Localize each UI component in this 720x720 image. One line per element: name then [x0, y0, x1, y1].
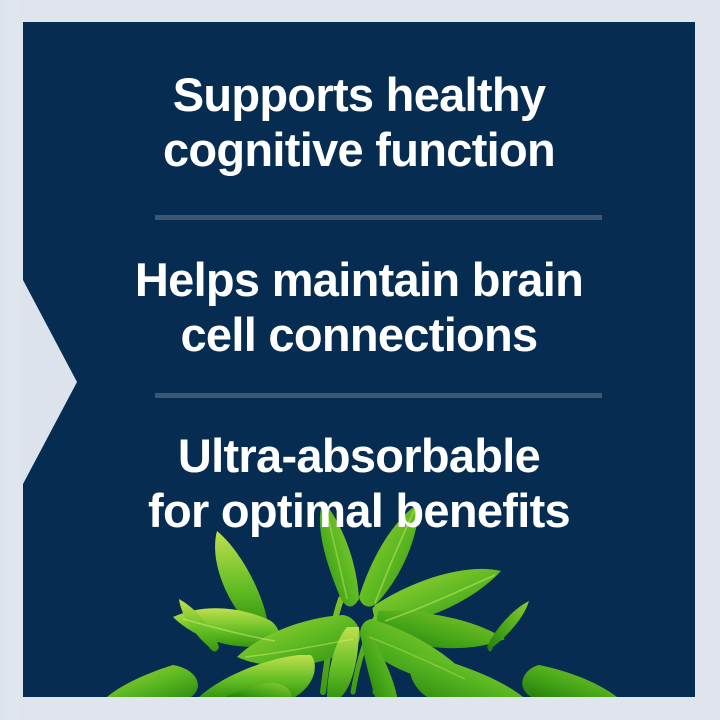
claim-line: for optimal benefits	[41, 484, 677, 539]
claim-line: cognitive function	[41, 123, 677, 178]
claim-line: cell connections	[41, 308, 677, 363]
claim-line: Ultra-absorbable	[41, 429, 677, 484]
claims-list: Supports healthy cognitive function Help…	[23, 22, 695, 697]
claim-line: Helps maintain brain	[41, 253, 677, 308]
claim-brain-cell-connections: Helps maintain brain cell connections	[23, 253, 695, 363]
claim-ultra-absorbable: Ultra-absorbable for optimal benefits	[23, 429, 695, 539]
benefits-panel-graphic: Supports healthy cognitive function Help…	[0, 0, 720, 720]
claim-line: Supports healthy	[41, 68, 677, 123]
navy-panel: Supports healthy cognitive function Help…	[23, 22, 695, 697]
divider-2	[155, 393, 602, 398]
left-edge-band	[0, 0, 23, 720]
divider-1	[155, 215, 602, 220]
claim-cognitive-function: Supports healthy cognitive function	[23, 68, 695, 178]
